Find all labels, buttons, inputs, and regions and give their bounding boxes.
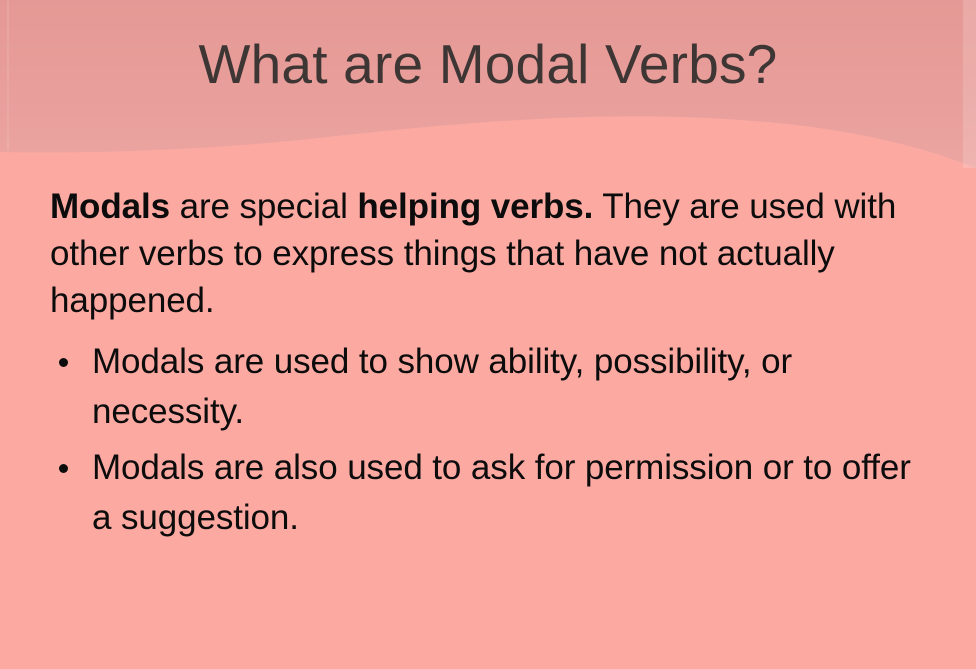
- list-item-label: Modals are also used to ask for permissi…: [92, 448, 911, 537]
- slide-body: Modals are special helping verbs. They a…: [50, 183, 930, 549]
- list-item: Modals are also used to ask for permissi…: [50, 443, 920, 543]
- lead-segment-bold-modals: Modals: [50, 187, 170, 226]
- bullet-dot-icon: [59, 358, 68, 367]
- header-decoration-band: [0, 0, 976, 200]
- slide-canvas: What are Modal Verbs? Modals are special…: [0, 0, 976, 669]
- bullet-dot-icon: [59, 464, 68, 473]
- lead-segment-bold-helping-verbs: helping verbs.: [357, 187, 593, 226]
- bullet-list: Modals are used to show ability, possibi…: [50, 337, 930, 543]
- list-item: Modals are used to show ability, possibi…: [50, 337, 920, 437]
- lead-paragraph: Modals are special helping verbs. They a…: [50, 183, 915, 324]
- list-item-label: Modals are used to show ability, possibi…: [92, 342, 792, 431]
- slide-title: What are Modal Verbs?: [0, 34, 976, 96]
- lead-segment-are-special: are special: [170, 187, 357, 226]
